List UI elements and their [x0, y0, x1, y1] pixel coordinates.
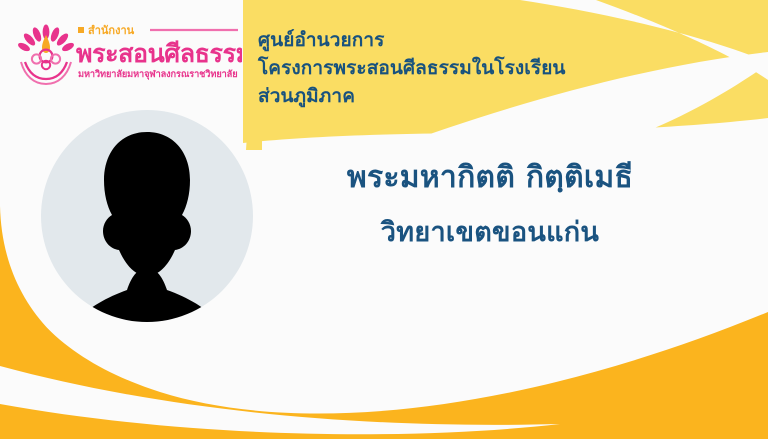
campus-name: วิทยาเขตขอนแก่น: [270, 215, 710, 251]
logo-sub-label: มหาวิทยาลัยมหาจุฬาลงกรณราชวิทยาลัย: [78, 69, 237, 80]
presentation-slide: สำนักงาน พระสอนศีลธรรม มหาวิทยาลัยมหาจุฬ…: [0, 0, 768, 439]
avatar: [41, 110, 253, 322]
header-line-3: ส่วนภูมิภาค: [258, 82, 566, 110]
logo-badge-label: สำนักงาน: [88, 24, 135, 37]
header-text-block: ศูนย์อำนวยการ โครงการพระสอนศีลธรรมในโรงเ…: [258, 26, 566, 110]
main-title-block: พระมหากิตติ กิตฺติเมธี วิทยาเขตขอนแก่น: [270, 158, 710, 251]
organization-logo: สำนักงาน พระสอนศีลธรรม มหาวิทยาลัยมหาจุฬ…: [16, 18, 242, 88]
logo-badge-square: [78, 27, 84, 33]
person-name: พระมหากิตติ กิตฺติเมธี: [270, 158, 710, 199]
header-line-2: โครงการพระสอนศีลธรรมในโรงเรียน: [258, 54, 566, 82]
avatar-graphic: [41, 110, 253, 322]
lotus-flower-emblem: [17, 25, 75, 85]
organization-logo-graphic: สำนักงาน พระสอนศีลธรรม มหาวิทยาลัยมหาจุฬ…: [16, 18, 242, 88]
logo-main-label: พระสอนศีลธรรม: [76, 39, 242, 68]
header-line-1: ศูนย์อำนวยการ: [258, 26, 566, 54]
